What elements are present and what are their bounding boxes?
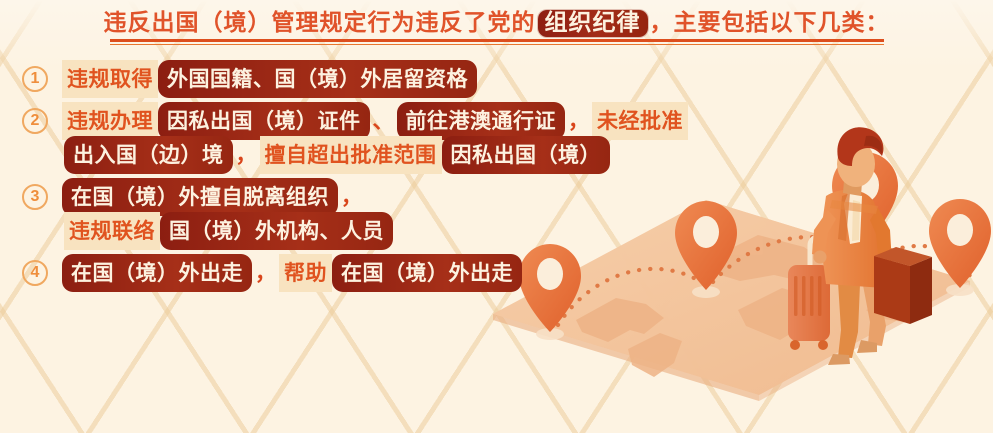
violation-item: 1违规取得外国国籍、国（境）外居留资格 [22,62,722,96]
violation-item: 2违规办理因私出国（境）证件、前往港澳通行证，未经批准出入国（边）境，擅自超出批… [22,104,722,172]
punctuation: 、 [370,104,397,138]
violation-item: 3在国（境）外擅自脱离组织，违规联络国（境）外机构、人员 [22,180,722,248]
dark-pill-phrase: 外国国籍、国（境）外居留资格 [158,60,477,98]
punctuation: ， [338,180,365,214]
violation-item: 4在国（境）外出走，帮助在国（境）外出走 [22,256,722,290]
punctuation: ， [565,104,592,138]
title-suffix: ，主要包括以下几类： [650,10,890,35]
highlight-phrase: 未经批准 [592,102,688,140]
title-prefix: 违反出国（境）管理规定行为违反了党的 [104,10,536,35]
dark-pill-phrase: 前往港澳通行证 [397,102,566,140]
item-number-badge: 1 [22,66,48,92]
item-number-badge: 3 [22,184,48,210]
dark-pill-phrase: 因私出国（境） [442,136,611,174]
violation-item-line: 1违规取得外国国籍、国（境）外居留资格 [22,62,722,96]
violation-item-line: 2违规办理因私出国（境）证件、前往港澳通行证，未经批准 [22,104,722,138]
briefcase-icon [874,247,932,324]
highlight-phrase: 违规联络 [64,212,160,250]
page-title: 违反出国（境）管理规定行为违反了党的组织纪律，主要包括以下几类： [104,8,890,45]
dark-pill-phrase: 出入国（边）境 [64,136,233,174]
dark-pill-phrase: 因私出国（境）证件 [158,102,370,140]
highlight-phrase: 违规取得 [62,60,158,98]
item-number-badge: 2 [22,108,48,134]
punctuation: ， [233,138,260,172]
highlight-phrase: 违规办理 [62,102,158,140]
title-underline-thick [110,39,884,42]
highlight-phrase: 擅自超出批准范围 [260,136,442,174]
title-underline [110,39,884,45]
violation-item-line: 出入国（边）境，擅自超出批准范围因私出国（境） [22,138,722,172]
dark-pill-phrase: 国（境）外机构、人员 [160,212,393,250]
violation-item-line: 4在国（境）外出走，帮助在国（境）外出走 [22,256,722,290]
page-title-block: 违反出国（境）管理规定行为违反了党的组织纪律，主要包括以下几类： [0,8,993,45]
infographic-canvas: 违反出国（境）管理规定行为违反了党的组织纪律，主要包括以下几类： 1违规取得外国… [0,0,993,433]
dark-pill-phrase: 在国（境）外出走 [62,254,252,292]
highlight-phrase: 帮助 [279,254,332,292]
title-badge-discipline: 组织纪律 [538,10,648,37]
violation-list: 1违规取得外国国籍、国（境）外居留资格2违规办理因私出国（境）证件、前往港澳通行… [22,62,722,298]
item-number-badge: 4 [22,260,48,286]
title-underline-thin [110,44,884,45]
punctuation: ， [252,256,279,290]
dark-pill-phrase: 在国（境）外出走 [332,254,522,292]
dark-pill-phrase: 在国（境）外擅自脱离组织 [62,178,338,216]
violation-item-line: 违规联络国（境）外机构、人员 [22,214,722,248]
violation-item-line: 3在国（境）外擅自脱离组织， [22,180,722,214]
